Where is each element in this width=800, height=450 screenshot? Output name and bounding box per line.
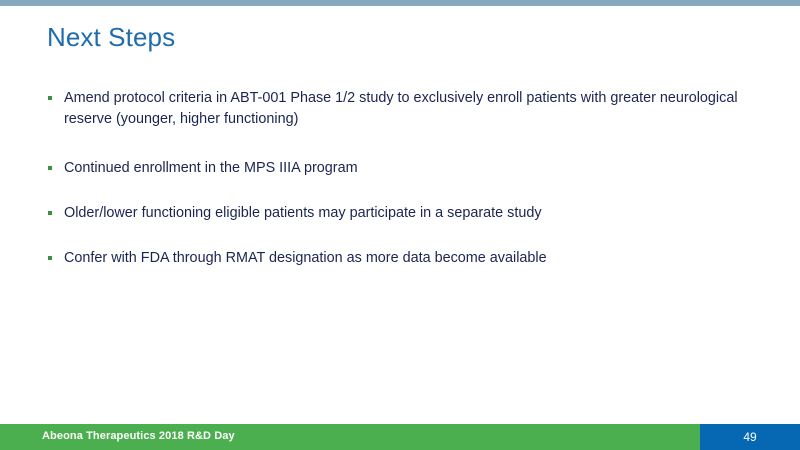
top-accent-bar [0, 0, 800, 6]
list-item-text: Older/lower functioning eligible patient… [64, 203, 746, 224]
bullet-square-icon [48, 96, 52, 100]
list-item-text: Amend protocol criteria in ABT-001 Phase… [64, 88, 746, 130]
list-item: Older/lower functioning eligible patient… [46, 203, 746, 224]
bullet-square-icon [48, 256, 52, 260]
list-item: Amend protocol criteria in ABT-001 Phase… [46, 88, 746, 130]
footer-label: Abeona Therapeutics 2018 R&D Day [42, 430, 235, 442]
list-item-text: Confer with FDA through RMAT designation… [64, 248, 746, 269]
list-item: Continued enrollment in the MPS IIIA pro… [46, 158, 746, 179]
slide: Next Steps Amend protocol criteria in AB… [0, 0, 800, 450]
list-item-text: Continued enrollment in the MPS IIIA pro… [64, 158, 746, 179]
page-title: Next Steps [47, 21, 175, 53]
bullet-square-icon [48, 211, 52, 215]
bullet-list: Amend protocol criteria in ABT-001 Phase… [46, 88, 746, 269]
page-number: 49 [700, 424, 800, 450]
bullet-square-icon [48, 166, 52, 170]
list-item: Confer with FDA through RMAT designation… [46, 248, 746, 269]
